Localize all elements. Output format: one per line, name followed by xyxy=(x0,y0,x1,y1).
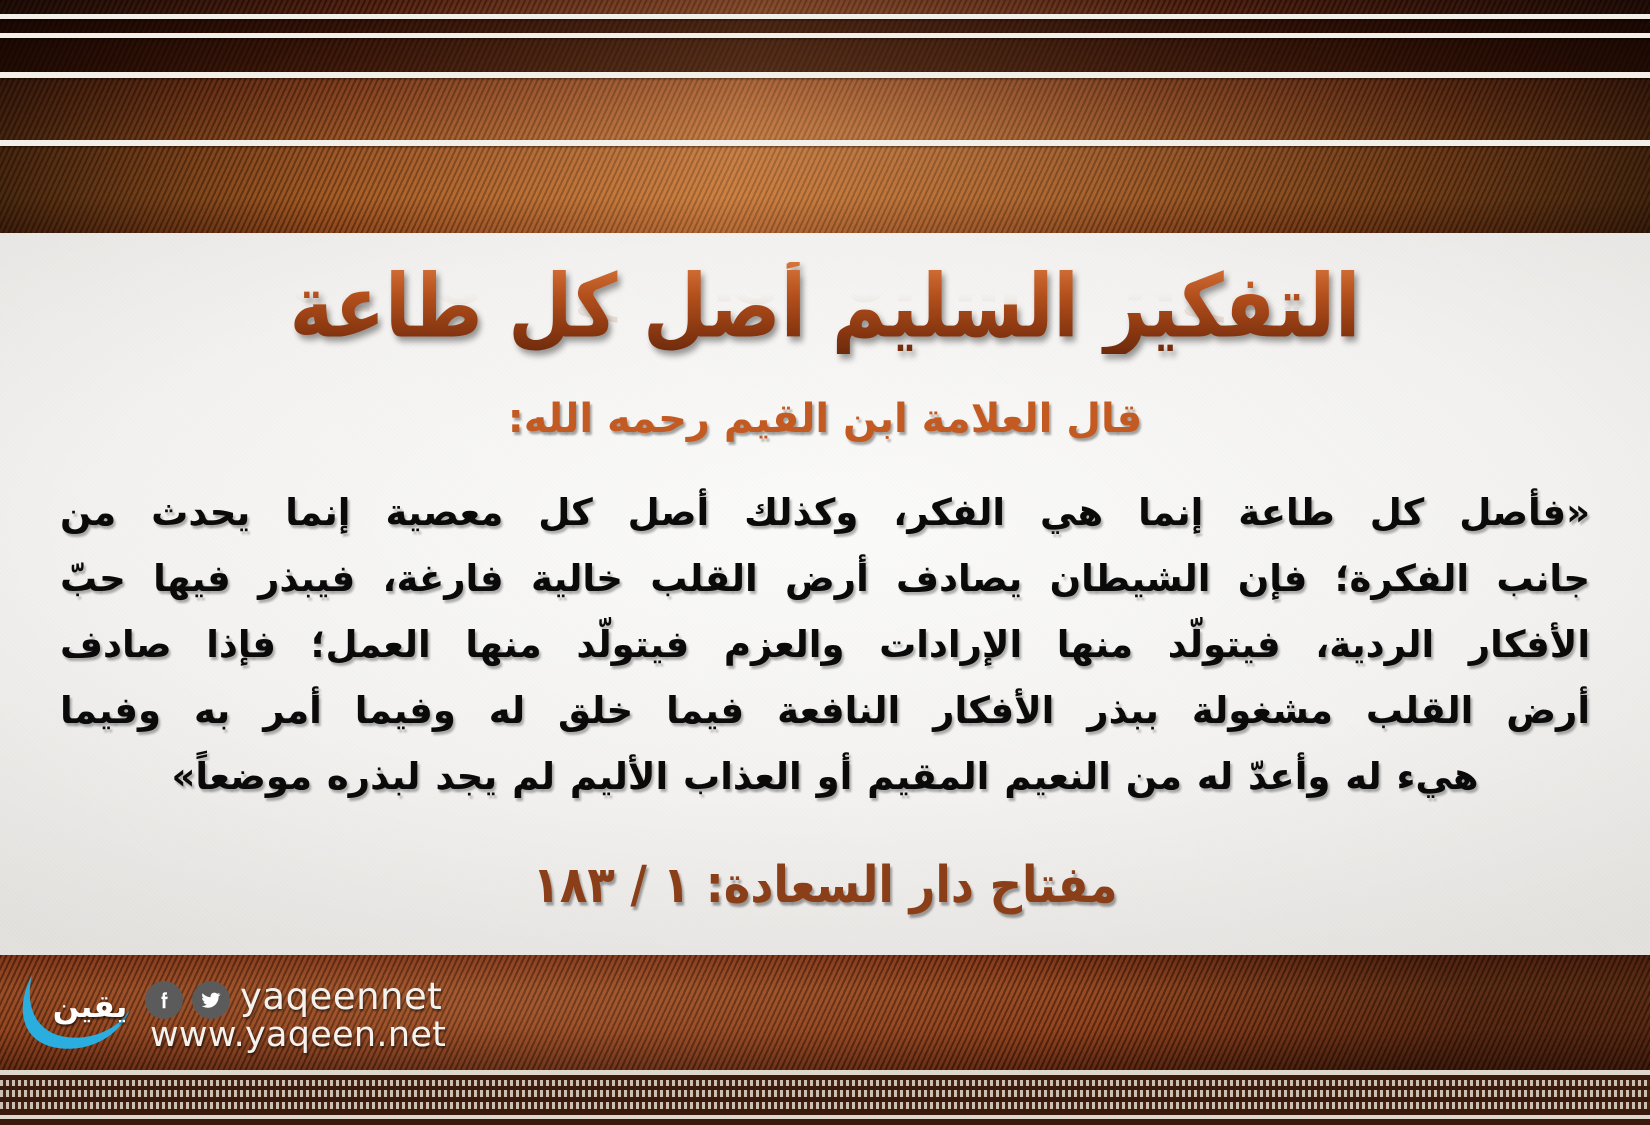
header-stripe-2 xyxy=(0,33,1650,38)
page-title: التفكير السليم أصل كل طاعة xyxy=(0,262,1650,354)
header-stripe-3 xyxy=(0,72,1650,78)
website-url[interactable]: www.yaqeen.net xyxy=(150,1015,446,1055)
header-stripe-4 xyxy=(0,140,1650,146)
bottom-stripe-hatched-3 xyxy=(0,1102,1650,1109)
attribution-line: قال العلامة ابن القيم رحمه الله: xyxy=(0,396,1650,442)
quote-line: أرض القلب مشغولة ببذر الأفكار النافعة في… xyxy=(60,678,1590,744)
footer-bar: يقين yaqeennet www.yaqeen.net xyxy=(0,955,1650,1070)
header-dark-band-2 xyxy=(0,38,1650,72)
header-stripe-1 xyxy=(0,14,1650,19)
quote-line: جانب الفكرة؛ فإن الشيطان يصادف أرض القلب… xyxy=(60,546,1590,612)
social-handle[interactable]: yaqeennet xyxy=(240,975,442,1018)
twitter-icon[interactable] xyxy=(192,981,230,1019)
quote-body: «فأصل كل طاعة إنما هي الفكر، وكذلك أصل ك… xyxy=(60,480,1590,810)
quote-line: هيء له وأعدّ له من النعيم المقيم أو العذ… xyxy=(60,744,1590,810)
quote-card: التفكير السليم أصل كل طاعة التفكير السلي… xyxy=(0,0,1650,1125)
header-banner xyxy=(0,0,1650,233)
header-dark-band-1 xyxy=(0,19,1650,33)
bottom-stripe-hatched-2 xyxy=(0,1090,1650,1097)
social-icons-group xyxy=(145,981,230,1019)
brand-logo: يقين xyxy=(16,969,136,1055)
brand-logo-text: يقين xyxy=(50,989,130,1025)
bottom-stripe-dark-5 xyxy=(0,1119,1650,1125)
bottom-stripe-border xyxy=(0,1070,1650,1125)
page-title-wrapper: التفكير السليم أصل كل طاعة xyxy=(0,262,1650,340)
facebook-icon[interactable] xyxy=(145,981,183,1019)
quote-line: «فأصل كل طاعة إنما هي الفكر، وكذلك أصل ك… xyxy=(60,480,1590,546)
source-citation: مفتاح دار السعادة: ١ / ١٨٣ xyxy=(0,855,1650,914)
quote-line: الأفكار الردية، فيتولّد منها الإرادات وا… xyxy=(60,612,1590,678)
